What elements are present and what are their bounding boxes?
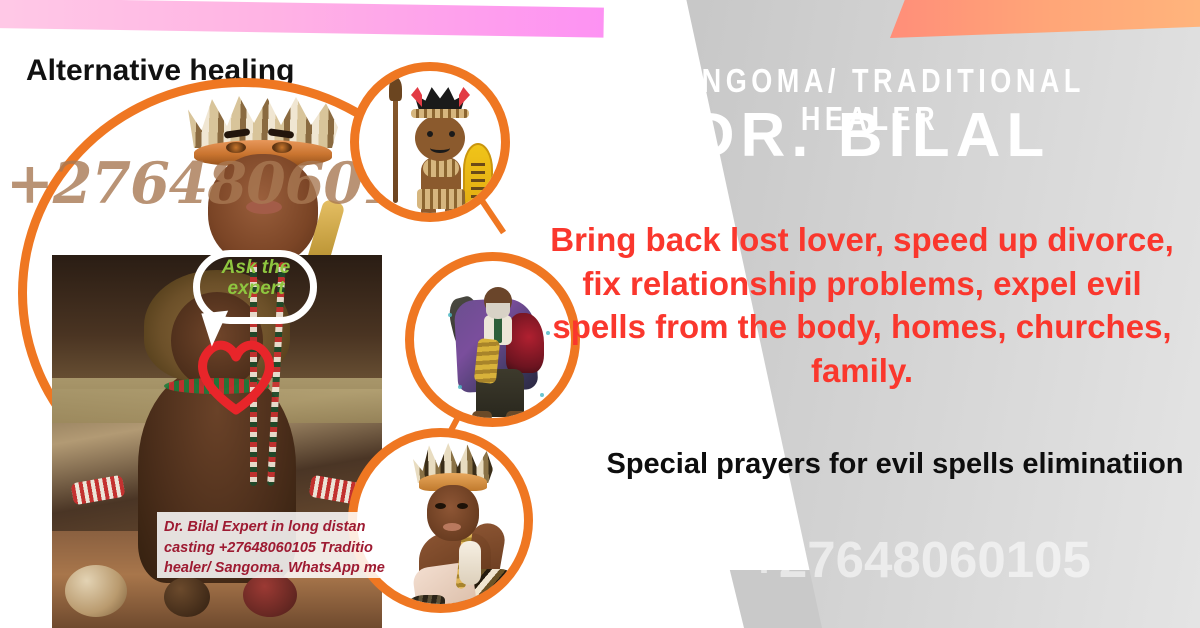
sparkle-4 xyxy=(540,393,544,397)
warrior-head xyxy=(415,115,465,161)
warrior-eye-left xyxy=(427,131,433,137)
warrior-eye-right xyxy=(449,131,455,137)
caption-line-3: healer/ Sangoma. WhatsApp me xyxy=(164,558,397,578)
healer-beard xyxy=(486,303,510,319)
circle-zulu-warrior xyxy=(350,62,510,222)
healer-scarf xyxy=(474,338,500,384)
sparkle-1 xyxy=(448,313,452,317)
photo-watermark-phone: +27648060105 xyxy=(6,150,606,217)
warrior-smile xyxy=(430,143,450,153)
healer-shoe-right xyxy=(506,411,526,421)
crouch-face xyxy=(427,485,479,541)
ghost-phone-number: +27648060105 xyxy=(640,530,1200,589)
zulu-warrior-illustration xyxy=(359,71,501,213)
red-heart-outline-icon xyxy=(193,337,279,415)
photo-caption-box: Dr. Bilal Expert in long distan casting … xyxy=(157,512,404,578)
photo-pot-c xyxy=(243,573,297,617)
sparkle-3 xyxy=(458,385,462,389)
headdress-red-left xyxy=(411,87,422,107)
crouch-tail-ornament xyxy=(405,595,445,613)
crouch-eye-left xyxy=(435,503,446,509)
photo-pot-b xyxy=(164,577,210,617)
services-text: Bring back lost lover, speed up divorce,… xyxy=(541,218,1183,392)
healer-name: DR. BILAL xyxy=(560,100,1180,171)
warrior-headband xyxy=(411,109,469,118)
crouch-mouth xyxy=(443,523,461,531)
shield-pattern xyxy=(471,163,485,205)
caption-line-2: casting +27648060105 Traditio xyxy=(164,538,397,559)
poster-canvas: Alternative healing xyxy=(0,0,1200,628)
caption-line-1: Dr. Bilal Expert in long distan xyxy=(164,517,397,538)
photo-pot-a xyxy=(65,565,127,617)
spear-shaft-icon xyxy=(393,87,398,203)
crouch-eye-right xyxy=(457,503,468,509)
spear-tip-icon xyxy=(389,77,402,101)
speech-bubble-text: Ask the expert xyxy=(196,258,316,299)
crouch-arm-cuff xyxy=(459,541,481,585)
healer-shoe-left xyxy=(472,411,492,421)
warrior-chest-pattern xyxy=(423,159,459,177)
offer-text: Special prayers for evil spells eliminat… xyxy=(600,445,1190,483)
photo-armband-left xyxy=(70,474,125,505)
warrior-skirt xyxy=(417,189,465,209)
headdress-red-right xyxy=(459,87,470,107)
left-collage: +27648060105 Ask the expert xyxy=(0,0,600,628)
